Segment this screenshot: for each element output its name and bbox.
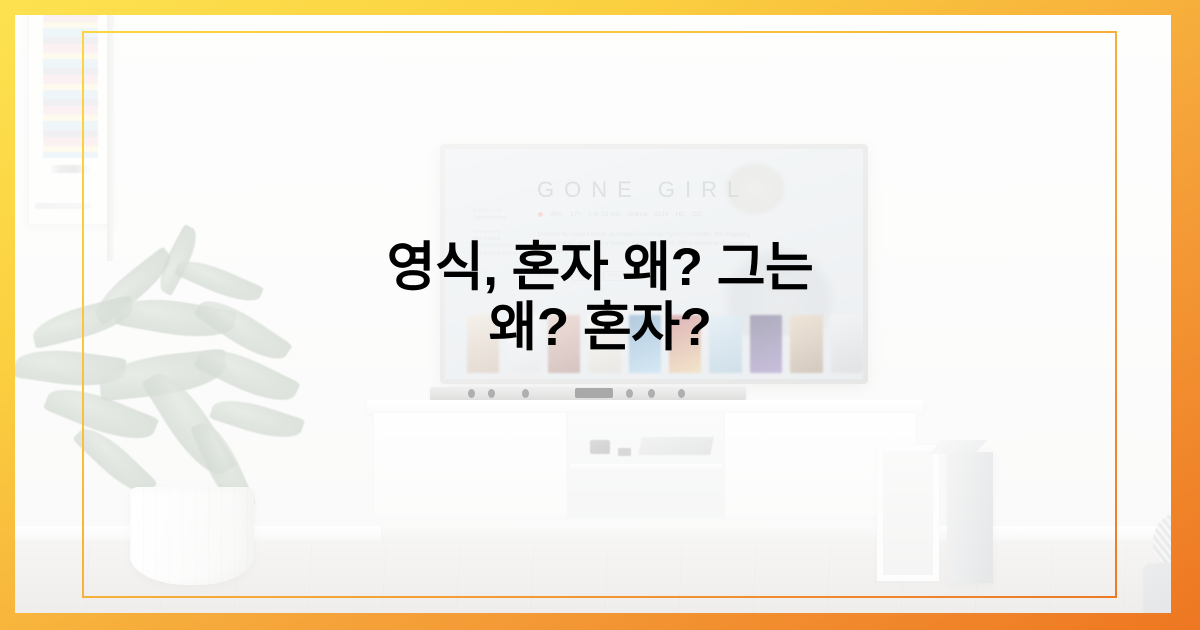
shelf-game-console (638, 437, 713, 455)
tv-console (367, 400, 923, 560)
tv-meta-duration: 2 hr 29 min (588, 211, 621, 218)
soundbar-center-channel (575, 388, 613, 398)
pouf-base (1143, 563, 1171, 613)
tv-meta-year: 2014 (654, 211, 668, 218)
side-shelf (877, 445, 939, 581)
wall-edge-trim (107, 15, 114, 261)
soundbar-driver (626, 389, 633, 398)
tv-meta-rating: 17+ (570, 211, 581, 218)
console-plinth (381, 518, 909, 544)
console-door-left[interactable] (374, 413, 567, 517)
soundbar-driver (678, 389, 685, 398)
framed-artwork (27, 15, 113, 226)
shelf-remote (590, 440, 610, 454)
soundbar-driver (648, 389, 655, 398)
tv-movie-title: GONE GIRL (537, 177, 749, 203)
console-open-shelves (567, 413, 725, 517)
plant-pot (130, 487, 254, 585)
headline-text: 영식, 혼자 왜? 그는 왜? 혼자? (0, 238, 1200, 358)
soundbar (430, 387, 746, 400)
console-body (373, 412, 917, 518)
rotten-tomatoes-icon (538, 212, 543, 217)
tv-meta-row: 98% 17+ 2 hr 29 min Drama 2014 HD CC (538, 211, 701, 218)
soundbar-driver (488, 389, 495, 398)
shelf-small-device (618, 448, 631, 456)
tv-meta-genre: Drama (628, 211, 648, 218)
tower-speaker (947, 452, 993, 583)
tv-meta-badge-hd: HD (676, 211, 685, 218)
tv-meta-score: 98% (550, 211, 563, 218)
tv-credit-role-starring: STARRING (473, 228, 517, 236)
tv-credit-names-director: David Fincher (473, 215, 507, 221)
shelf-divider (570, 464, 722, 470)
tv-credit-role-director: DIRECTOR (473, 207, 517, 215)
thumbnail-card: GONE GIRL 98% 17+ 2 hr 29 min Drama 2014… (0, 0, 1200, 630)
soundbar-driver (522, 389, 529, 398)
tv-meta-badge-cc: CC (692, 211, 701, 218)
soundbar-driver (468, 389, 475, 398)
artwork-caption (35, 203, 91, 209)
artwork-stripes (43, 15, 98, 158)
artwork-signature (49, 165, 91, 173)
